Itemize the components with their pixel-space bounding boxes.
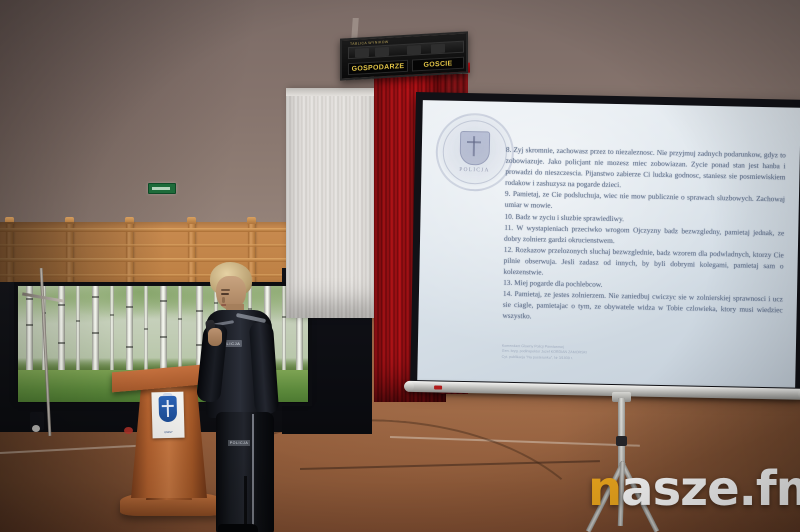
photo-scene: TABLICA WYNIKOW GOSPODARZE GOSCIE POLICJ… bbox=[0, 0, 800, 532]
podium-crest-caption: GMINY bbox=[152, 430, 184, 434]
projection-screen: POLICJA 8. Zyj skromnie, zachowasz przez… bbox=[410, 92, 800, 400]
red-floor-marker bbox=[124, 427, 133, 434]
slide-line: 14. Pamietaj, ze jestes zolnierzem. Nie … bbox=[502, 288, 783, 327]
scoreboard-home-label: GOSPODARZE bbox=[348, 60, 408, 75]
sports-scoreboard: TABLICA WYNIKOW GOSPODARZE GOSCIE bbox=[340, 31, 468, 80]
exit-sign bbox=[148, 183, 176, 194]
nasze-fm-watermark: nasze.fm bbox=[588, 465, 800, 513]
trouser-side-stripe bbox=[252, 414, 254, 526]
projected-slide: POLICJA 8. Zyj skromnie, zachowasz przez… bbox=[417, 100, 800, 388]
scoreboard-away-label: GOSCIE bbox=[412, 57, 464, 72]
white-curtain-rail bbox=[286, 88, 378, 96]
slide-line: 12. Rozkazow przelozonych sluchaj bezwzg… bbox=[503, 244, 784, 283]
presenter-shoes bbox=[218, 524, 258, 532]
watermark-accent-letter: n bbox=[588, 461, 621, 517]
tripod-adjust-knob[interactable] bbox=[616, 436, 627, 446]
police-officer-presenter: POLICJA POLICJA bbox=[196, 262, 292, 532]
slide-line: 8. Zyj skromnie, zachowasz przez to niez… bbox=[505, 144, 786, 194]
white-floor-object bbox=[32, 425, 40, 432]
tripod-column bbox=[618, 398, 625, 470]
screen-brand-label bbox=[434, 385, 442, 389]
presenter-hand bbox=[208, 328, 222, 346]
trouser-badge: POLICJA bbox=[228, 440, 250, 446]
wall-shadow bbox=[0, 0, 330, 232]
watermark-text: asze.fm bbox=[621, 461, 800, 517]
emblem-word: POLICJA bbox=[437, 166, 511, 173]
presenter-right-arm bbox=[249, 321, 279, 414]
slide-body-text: 8. Zyj skromnie, zachowasz przez to niez… bbox=[502, 144, 786, 327]
white-curtain bbox=[286, 88, 378, 318]
podium-coat-of-arms: GMINY bbox=[151, 392, 184, 439]
